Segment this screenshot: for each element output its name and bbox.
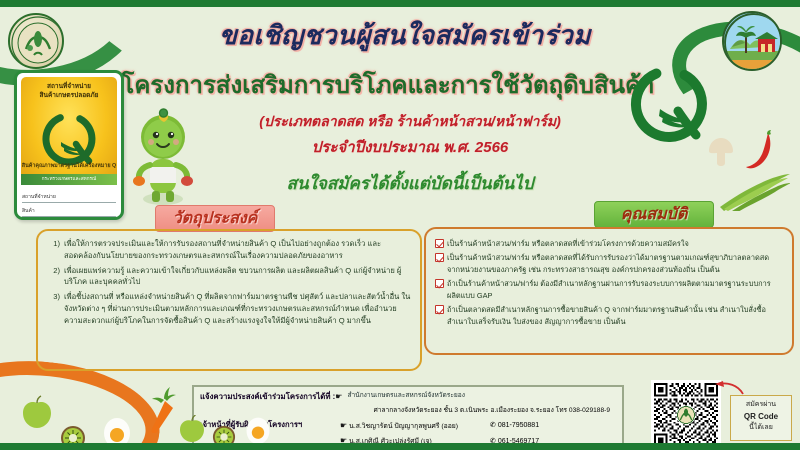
rayong-province-seal-icon <box>722 11 782 71</box>
qr-note-line2: QR Code <box>744 412 778 421</box>
officer-phone-number: 081-7950881 <box>498 422 539 429</box>
checkbox-checked-icon <box>435 239 444 248</box>
certificate-title-line1: สถานที่จำหน่าย <box>47 83 91 90</box>
qr-code-image <box>654 383 718 447</box>
officer-phone-number: 061-5469717 <box>498 438 539 445</box>
objectives-banner: วัตถุประสงค์ <box>155 205 275 232</box>
carrot-icon <box>143 385 177 433</box>
q-certificate-card: สถานที่จำหน่าย สินค้าเกษตรปลอดภัย สินค้า… <box>14 70 124 220</box>
officer-name-text: น.ส.เกศิณี ศัวะเปล่งรัศมี (เจ) <box>349 438 432 445</box>
pointing-hand-icon: ☛ <box>340 436 347 445</box>
certificate-title-line2: สินค้าเกษตรปลอดภัย <box>40 92 99 99</box>
green-apple-icon <box>178 415 206 443</box>
green-apple-icon <box>20 395 54 429</box>
contact-address: ศาลากลางจังหวัดระยอง ชั้น 3 ต.เนินพระ อ.… <box>200 404 616 415</box>
kiwi-slice-icon <box>212 425 236 449</box>
green-onion-icon <box>718 167 790 211</box>
checkbox-checked-icon <box>435 253 444 262</box>
qualification-text: เป็นร้านค้าหน้าสวน/ฟาร์ม หรือตลาดสดที่เข… <box>447 238 689 249</box>
poster-call-to-action: สนใจสมัครได้ตั้งแต่บัดนี้เป็นต้นไป <box>200 170 620 197</box>
qualification-item: เป็นร้านค้าหน้าสวน/ฟาร์ม หรือตลาดสดที่เข… <box>435 238 784 249</box>
pointing-hand-icon: ☛ <box>340 421 347 430</box>
objective-number: 1) <box>48 238 64 262</box>
certificate-field-product: สินค้า <box>22 207 116 217</box>
officer-name-text: น.ส.วิชญารัตน์ ปัญญากุลพูนศรี (ออย) <box>349 423 458 430</box>
mushroom-icon <box>705 135 737 169</box>
certificate-caption: สินค้าคุณภาพมาตรฐานได้เครื่องหมาย Q <box>21 162 117 170</box>
qualifications-box: เป็นร้านค้าหน้าสวน/ฟาร์ม หรือตลาดสดที่เข… <box>424 227 794 355</box>
objective-item: 2) เพื่อเผยแพร่ความรู้ และความเข้าใจเกี่… <box>48 265 412 289</box>
qualification-item: เป็นร้านค้าหน้าสวน/ฟาร์ม หรือตลาดสดที่ได… <box>435 252 784 275</box>
contact-intro-row: แจ้งความประสงค์เข้าร่วมโครงการได้ที่ : ☛… <box>200 391 616 403</box>
certificate-field-place: สถานที่จำหน่าย <box>22 193 116 203</box>
officer-name: ☛น.ส.วิชญารัตน์ ปัญญากุลพูนศรี (ออย) <box>340 420 490 431</box>
kiwi-slice-icon <box>60 425 86 450</box>
qr-instruction-note: สมัครผ่าน QR Code นี้ได้เลย <box>730 395 792 441</box>
objectives-box: 1) เพื่อให้การตรวจประเมินและให้การรับรอง… <box>36 229 422 371</box>
poster-title-category: (ประเภทตลาดสด หรือ ร้านค้าหน้าสวน/หน้าฟา… <box>200 111 620 133</box>
qr-note-line1: สมัครผ่าน <box>731 400 791 411</box>
certificate-title: สถานที่จำหน่าย สินค้าเกษตรปลอดภัย <box>21 77 117 101</box>
objective-item: 1) เพื่อให้การตรวจประเมินและให้การรับรอง… <box>48 238 412 262</box>
poster-root: ขอเชิญชวนผู้สนใจสมัครเข้าร่วม โครงการส่ง… <box>0 0 800 450</box>
qr-note-line3: นี้ได้เลย <box>731 423 791 434</box>
certificate-ministry-bar: กระทรวงเกษตรและสหกรณ์ <box>21 174 117 185</box>
telephone-icon: ✆ <box>490 422 496 429</box>
poster-title-main: ขอเชิญชวนผู้สนใจสมัครเข้าร่วม <box>170 15 640 56</box>
certificate-fields: สถานที่จำหน่าย สินค้า <box>17 189 121 217</box>
qualification-text: เป็นร้านค้าหน้าสวน/ฟาร์ม หรือตลาดสดที่ได… <box>447 252 784 275</box>
contact-office: สำนักงานเกษตรและสหกรณ์จังหวัดระยอง <box>347 391 464 403</box>
qualification-item: ถ้าเป็นร้านค้าหน้าสวน/ฟาร์ม ต้องมีสำเนาห… <box>435 278 784 301</box>
qualification-text: ถ้าเป็นตลาดสดมีสำเนาหลักฐานการซื้อขายสิน… <box>447 304 784 327</box>
qualifications-list: เป็นร้านค้าหน้าสวน/ฟาร์ม หรือตลาดสดที่เข… <box>426 229 792 327</box>
checkbox-checked-icon <box>435 279 444 288</box>
objective-number: 2) <box>48 265 64 289</box>
q-mark-logo-icon <box>630 65 708 143</box>
vegetable-mascot-icon <box>126 107 200 212</box>
objective-text: เพื่อเผยแพร่ความรู้ และความเข้าใจเกี่ยวก… <box>64 265 412 289</box>
ministry-of-agriculture-seal-icon <box>8 13 64 69</box>
objectives-list: 1) เพื่อให้การตรวจประเมินและให้การรับรอง… <box>38 231 420 326</box>
poster-title-budget-year: ประจำปีงบประมาณ พ.ศ. 2566 <box>200 135 620 159</box>
officer-name: ☛น.ส.เกศิณี ศัวะเปล่งรัศมี (เจ) <box>340 435 490 446</box>
officer-phone[interactable]: ✆ 081-7950881 <box>490 421 539 429</box>
telephone-icon: ✆ <box>490 438 496 445</box>
certificate-gold-panel: สถานที่จำหน่าย สินค้าเกษตรปลอดภัย สินค้า… <box>21 77 117 185</box>
poster-title-subtitle: โครงการส่งเสริมการบริโภคและการใช้วัตถุดิ… <box>118 65 658 104</box>
boiled-egg-icon <box>100 415 134 449</box>
qualification-item: ถ้าเป็นตลาดสดมีสำเนาหลักฐานการซื้อขายสิน… <box>435 304 784 327</box>
officer-phone[interactable]: ✆ 061-5469717 <box>490 437 539 445</box>
certificate-q-mark-icon <box>41 111 97 167</box>
pointing-hand-icon: ☛ <box>335 391 342 403</box>
objective-text: เพื่อให้การตรวจประเมินและให้การรับรองสถา… <box>64 238 412 262</box>
checkbox-checked-icon <box>435 305 444 314</box>
objective-item: 3) เพื่อชี้บ่งสถานที่ หรือแหล่งจำหน่ายสิ… <box>48 291 412 326</box>
qualifications-banner: คุณสมบัติ <box>594 201 714 228</box>
boiled-egg-icon <box>243 415 273 445</box>
objective-text: เพื่อชี้บ่งสถานที่ หรือแหล่งจำหน่ายสินค้… <box>64 291 412 326</box>
qr-code[interactable] <box>651 380 721 450</box>
qualification-text: ถ้าเป็นร้านค้าหน้าสวน/ฟาร์ม ต้องมีสำเนาห… <box>447 278 784 301</box>
contact-intro-label: แจ้งความประสงค์เข้าร่วมโครงการได้ที่ : <box>200 391 335 403</box>
objective-number: 3) <box>48 291 64 326</box>
